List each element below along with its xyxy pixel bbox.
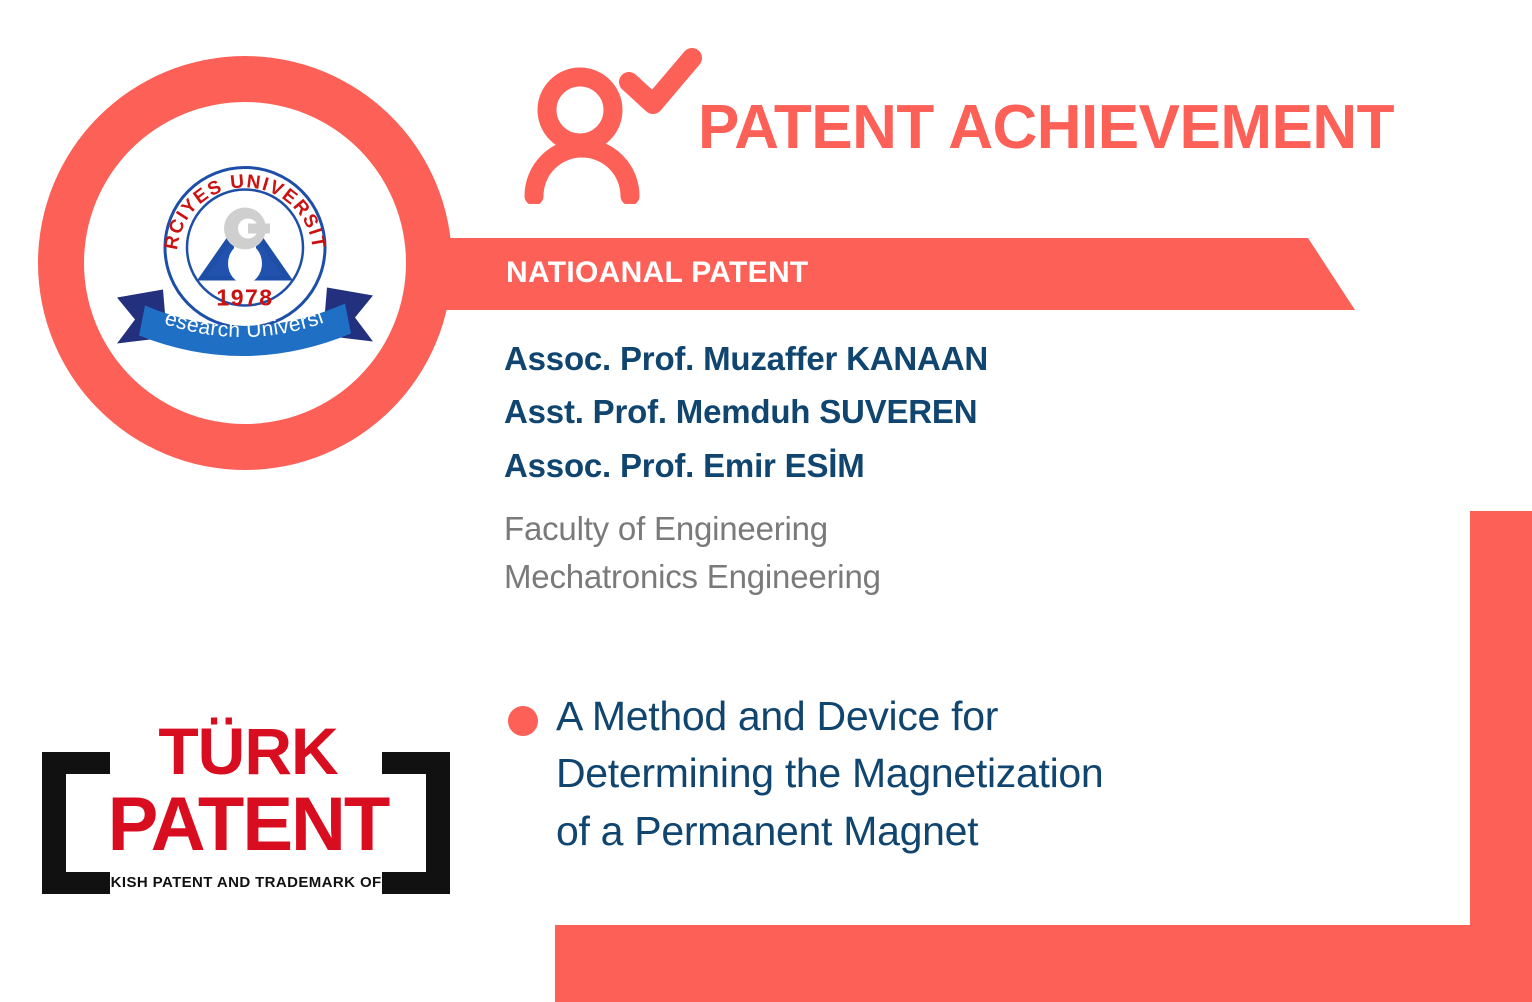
svg-text:1978: 1978 <box>216 285 273 311</box>
turkpatent-tagline: TURKISH PATENT AND TRADEMARK OFFICE <box>79 874 418 891</box>
left-bracket-icon <box>42 752 110 894</box>
patent-title-block: A Method and Device for Determining the … <box>556 688 1386 860</box>
affiliation-department: Mechatronics Engineering <box>504 553 1304 601</box>
affiliation-faculty: Faculty of Engineering <box>504 505 1304 553</box>
affiliation-block: Faculty of Engineering Mechatronics Engi… <box>504 505 1304 601</box>
erciyes-university-emblem-icon: ERCIYES UNIVERSITY 1978 Research Univers… <box>115 156 375 371</box>
bullet-dot-icon <box>508 706 538 736</box>
patent-title-line: of a Permanent Magnet <box>556 803 1386 860</box>
category-banner-label: NATIOANAL PATENT <box>506 255 809 291</box>
decorative-frame-bottom-bar <box>555 925 1532 1002</box>
inventor-list: Assoc. Prof. Muzaffer KANAAN Asst. Prof.… <box>504 332 1304 492</box>
turkpatent-line1: TÜRK <box>158 714 339 788</box>
page-title: PATENT ACHIEVEMENT <box>698 97 1394 159</box>
turkpatent-line2: PATENT <box>108 782 390 867</box>
inventor-name: Assoc. Prof. Emir ESİM <box>504 439 1304 492</box>
right-bracket-icon <box>382 752 450 894</box>
university-logo-ring-inner: ERCIYES UNIVERSITY 1978 Research Univers… <box>84 102 406 424</box>
person-check-icon <box>516 44 706 204</box>
patent-title-line: Determining the Magnetization <box>556 745 1386 802</box>
inventor-name: Asst. Prof. Memduh SUVEREN <box>504 385 1304 438</box>
university-logo-ring: ERCIYES UNIVERSITY 1978 Research Univers… <box>38 56 452 470</box>
patent-title-line: A Method and Device for <box>556 688 1386 745</box>
turk-patent-logo: TÜRK PATENT TURKISH PATENT AND TRADEMARK… <box>36 712 456 912</box>
inventor-name: Assoc. Prof. Muzaffer KANAAN <box>504 332 1304 385</box>
